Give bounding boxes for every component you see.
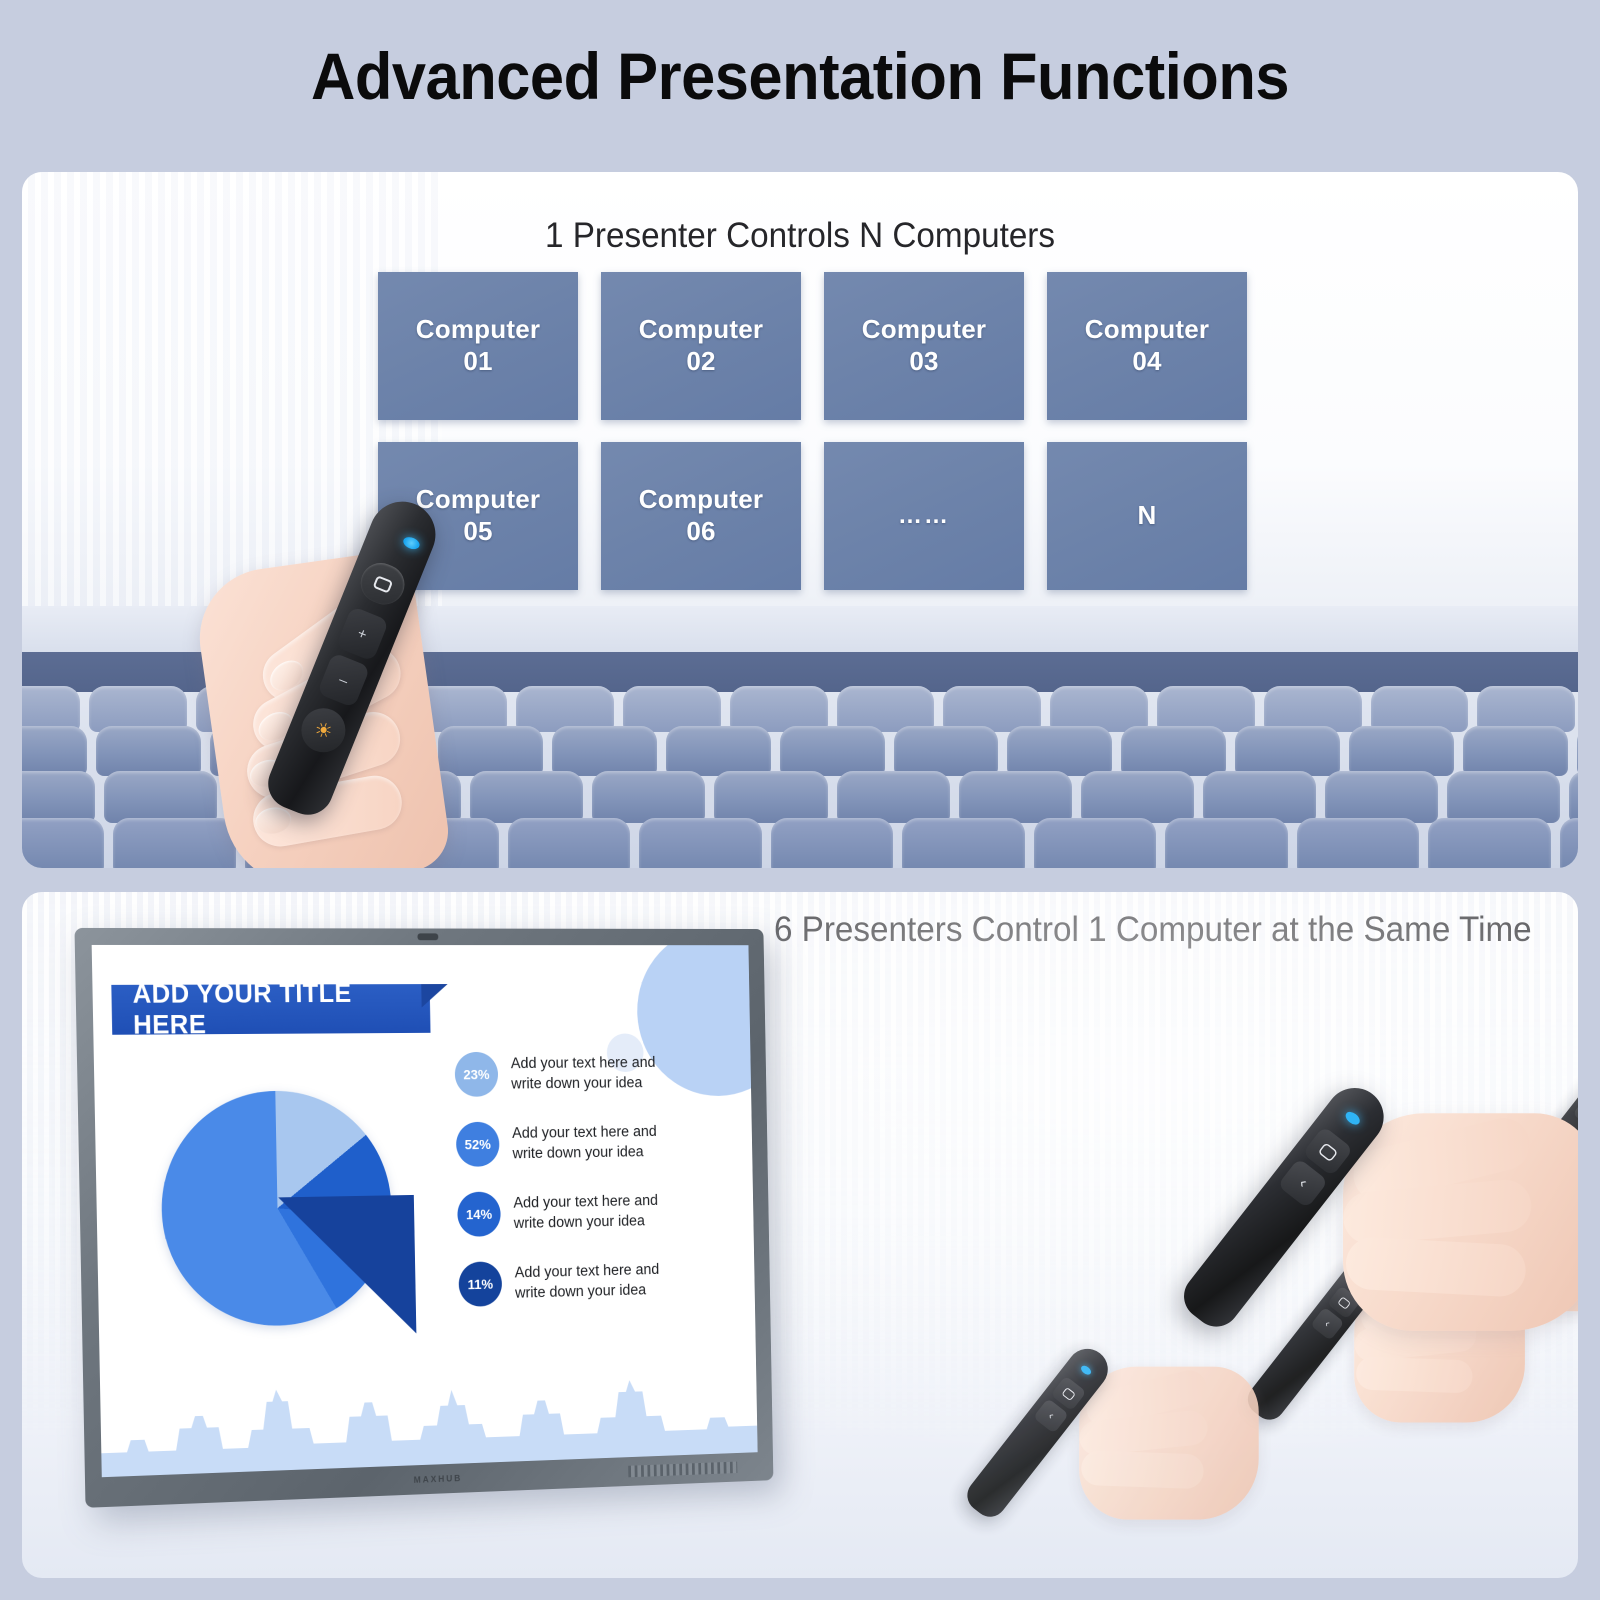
tile-number: 01	[463, 346, 492, 376]
tile-number: N	[1138, 500, 1157, 532]
tile-number: ……	[898, 501, 950, 530]
status-led-icon	[401, 535, 421, 552]
bullet-text: Add your text here and write down your i…	[513, 1190, 688, 1235]
list-item: 11% Add your text here and write down yo…	[458, 1257, 689, 1307]
display-bezel: ADD YOUR TITLE HERE 23% Add your text he…	[74, 928, 773, 1508]
list-item: 52% Add your text here and write down yo…	[456, 1119, 688, 1167]
list-item: 23% Add your text here and write down yo…	[454, 1050, 686, 1097]
computer-tile-wall: Computer01 Computer02 Computer03 Compute…	[378, 272, 1268, 618]
tile-label: Computer	[416, 314, 540, 344]
percent-badge: 14%	[457, 1191, 501, 1237]
volume-up-button[interactable]: +	[336, 606, 390, 662]
banner-fold	[421, 984, 448, 1007]
camera-icon	[417, 933, 438, 940]
tile-computer-03[interactable]: Computer03	[824, 272, 1024, 420]
percent-badge: 23%	[454, 1052, 498, 1097]
slide-bullet-list: 23% Add your text here and write down yo…	[454, 1050, 690, 1332]
tile-label: Computer	[862, 314, 986, 344]
screen-icon	[372, 575, 393, 593]
page-title: Advanced Presentation Functions	[56, 38, 1544, 114]
presenter-remote-in-hand: + – ☀	[202, 492, 502, 868]
tile-label: Computer	[639, 314, 763, 344]
laser-pointer-button[interactable]: ☀	[295, 702, 352, 759]
tile-computer-n[interactable]: N	[1047, 442, 1247, 590]
computer-grid: Computer01 Computer02 Computer03 Compute…	[378, 272, 1268, 618]
bullet-text: Add your text here and write down your i…	[511, 1052, 686, 1095]
tile-computer-06[interactable]: Computer06	[601, 442, 801, 590]
tile-computer-02[interactable]: Computer02	[601, 272, 801, 420]
tile-computer-01[interactable]: Computer01	[378, 272, 578, 420]
bullet-text: Add your text here and write down your i…	[515, 1258, 690, 1303]
tile-number: 02	[686, 346, 715, 376]
percent-badge: 52%	[456, 1122, 500, 1167]
bullet-text: Add your text here and write down your i…	[512, 1121, 687, 1165]
tile-number: 03	[909, 346, 938, 376]
display-screen[interactable]: ADD YOUR TITLE HERE 23% Add your text he…	[92, 945, 758, 1477]
page-button[interactable]	[355, 557, 411, 611]
tile-computer-04[interactable]: Computer04	[1047, 272, 1247, 420]
top-section-heading: 1 Presenter Controls N Computers	[61, 216, 1539, 256]
interactive-display: ADD YOUR TITLE HERE 23% Add your text he…	[74, 928, 773, 1508]
tile-label: Computer	[1085, 314, 1209, 344]
tile-number: 06	[686, 516, 715, 546]
bottom-section-heading: 6 Presenters Control 1 Computer at the S…	[774, 910, 1532, 950]
percent-badge: 11%	[458, 1261, 502, 1307]
slide-title-banner: ADD YOUR TITLE HERE	[111, 984, 430, 1035]
panel-one-presenter-n-computers: 1 Presenter Controls N Computers Compute…	[22, 172, 1578, 868]
list-item: 14% Add your text here and write down yo…	[457, 1188, 689, 1237]
tile-ellipsis: ……	[824, 442, 1024, 590]
volume-down-button[interactable]: –	[317, 652, 371, 708]
panel-six-presenters-one-computer: 6 Presenters Control 1 Computer at the S…	[22, 892, 1578, 1578]
tile-label: Computer	[639, 484, 763, 514]
tile-number: 04	[1132, 346, 1161, 376]
pie-chart	[159, 1072, 424, 1343]
